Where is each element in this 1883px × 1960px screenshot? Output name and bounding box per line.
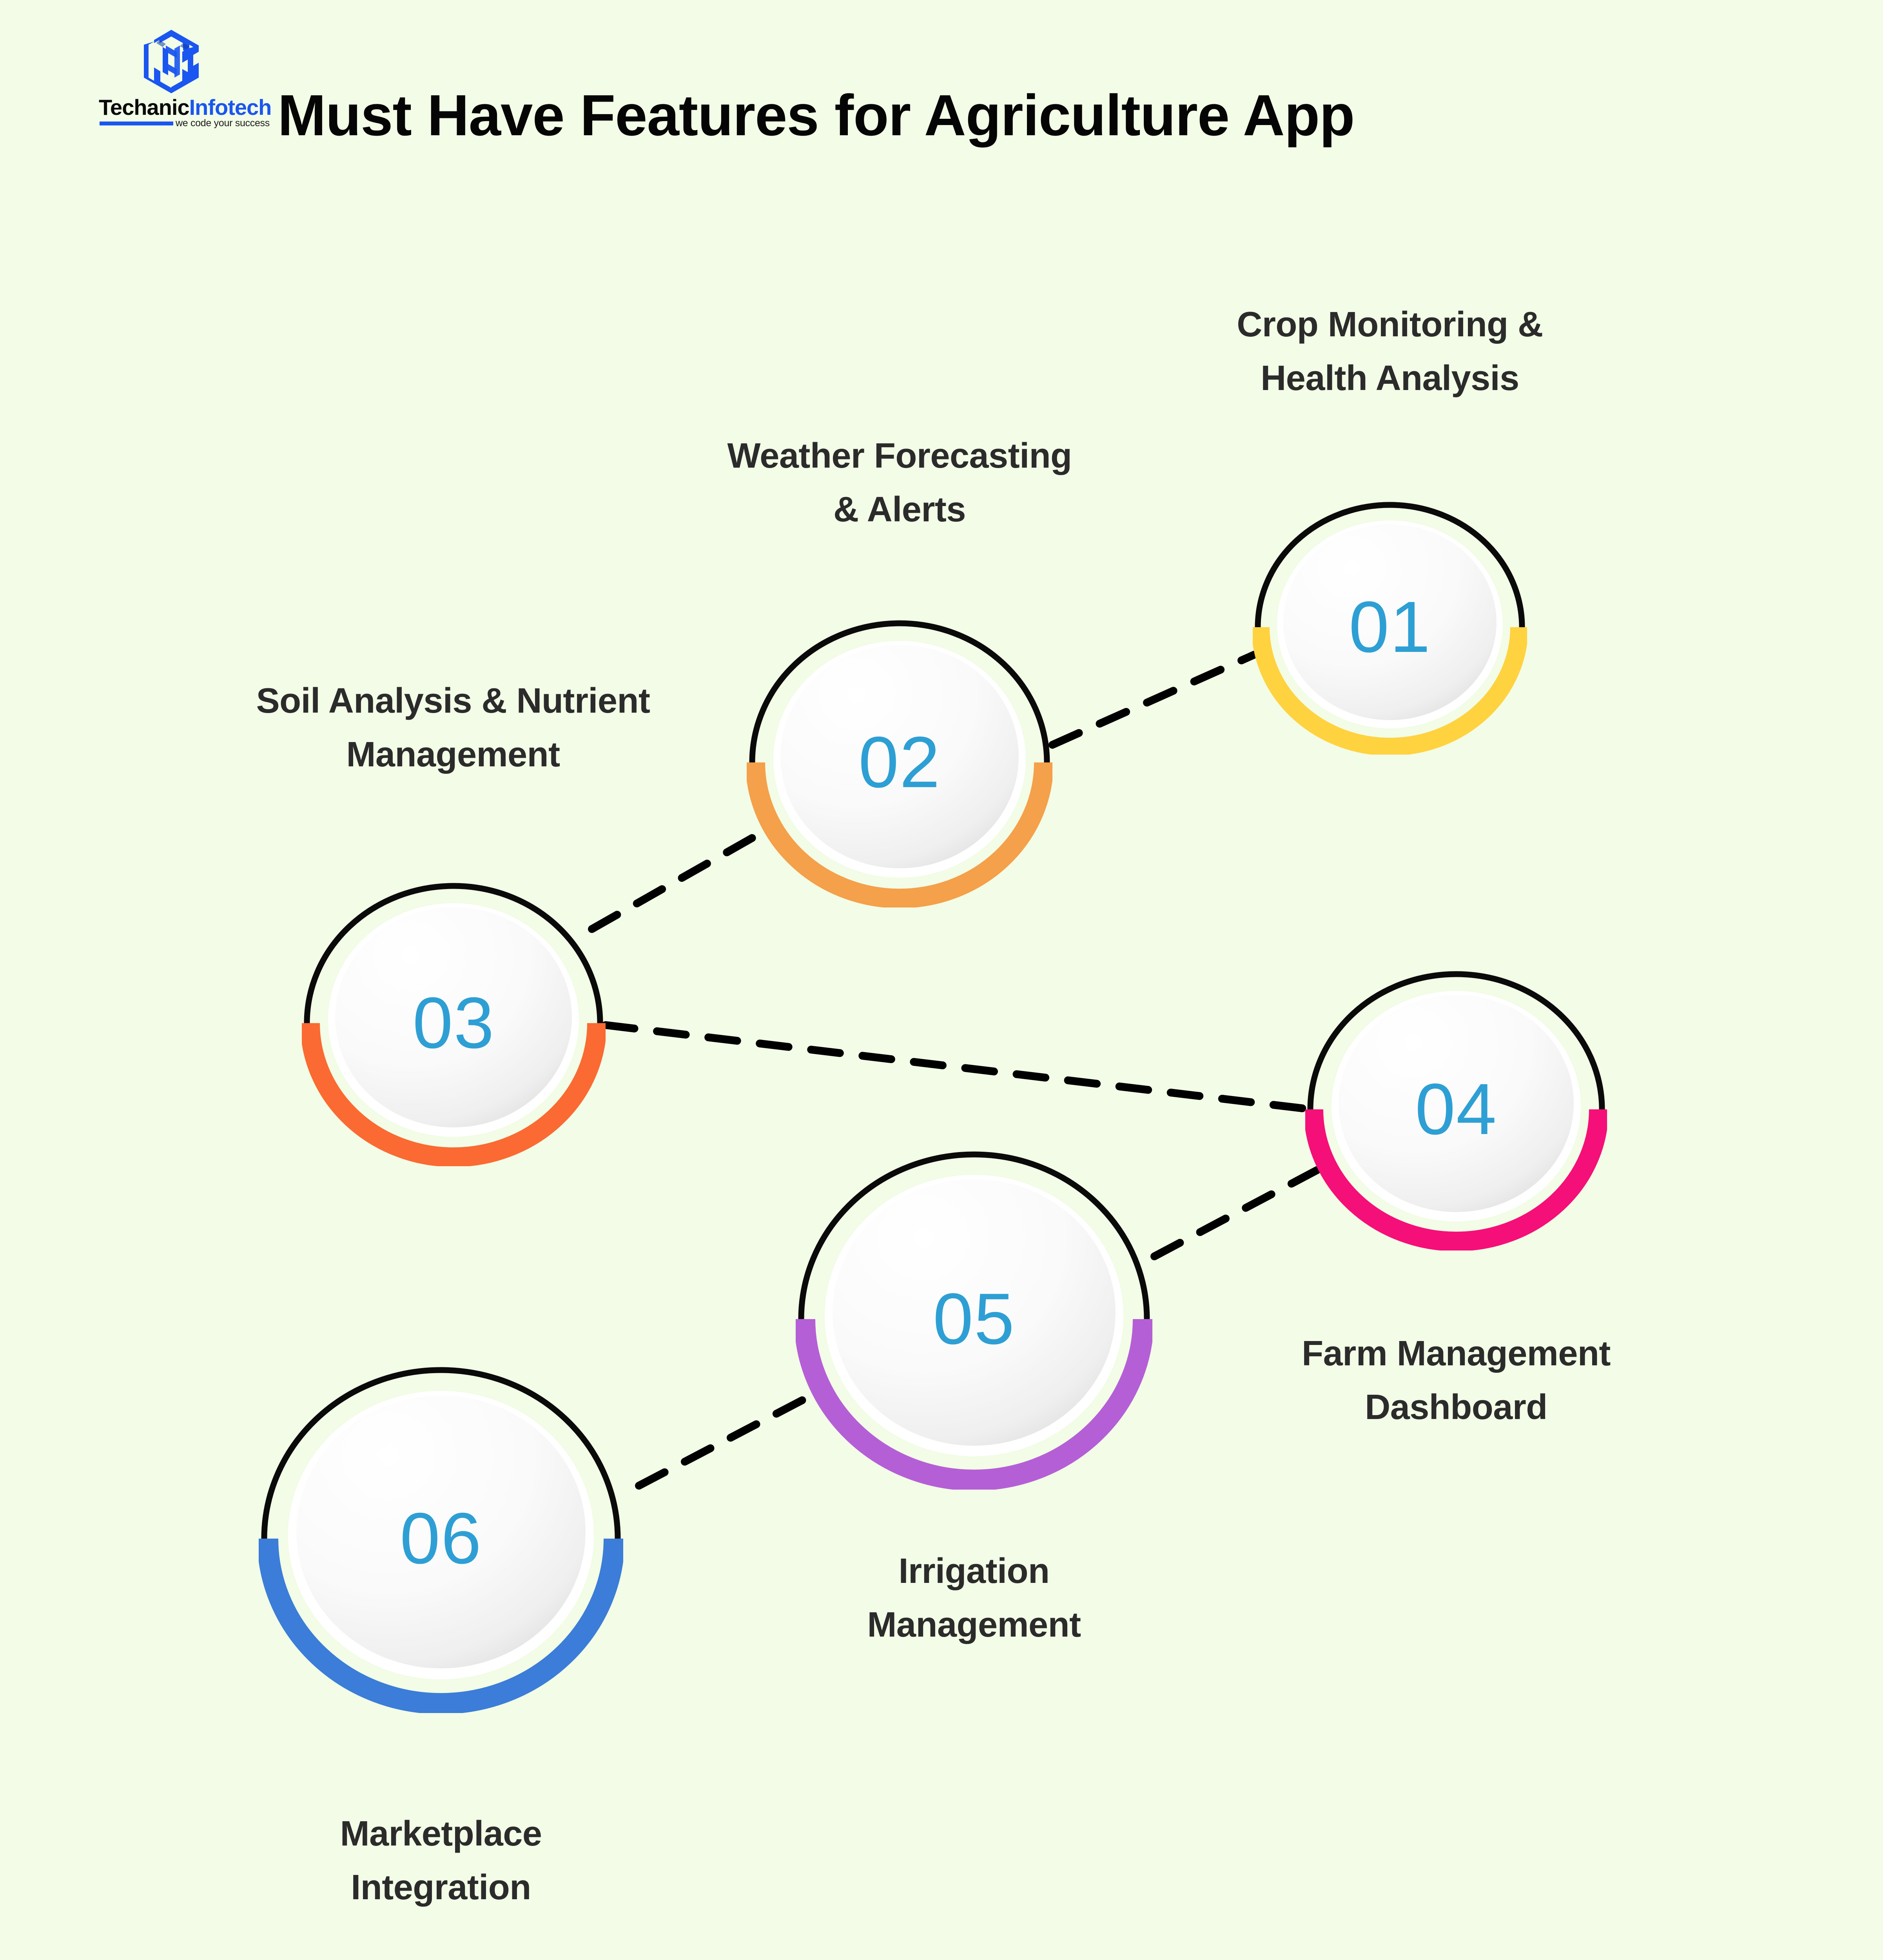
node-02[interactable]: 02 [747,617,1052,907]
connector-03-04 [606,1025,1311,1109]
connector-05-06 [639,1397,807,1486]
node-01-label: Crop Monitoring & Health Analysis [1092,298,1688,405]
node-06[interactable]: 06 [259,1364,623,1713]
node-02-ring [747,617,1052,907]
node-05-ring [796,1149,1152,1490]
node-04[interactable]: 04 [1305,968,1607,1250]
connector-02-01 [1052,655,1254,745]
node-03-label: Soil Analysis & Nutrient Management [155,674,751,782]
connector-03-02 [592,831,764,929]
node-06-ring [259,1364,623,1713]
node-04-ring [1305,968,1607,1250]
node-02-label: Weather Forecasting & Alerts [602,429,1197,537]
node-05-label: Irrigation Management [676,1544,1272,1652]
node-04-label: Farm Management Dashboard [1158,1327,1754,1434]
node-01[interactable]: 01 [1253,500,1527,755]
infographic-canvas: TechanicInfotech we code your success Mu… [0,0,1883,1960]
connector-04-05 [1154,1170,1317,1256]
node-01-ring [1253,500,1527,755]
node-05[interactable]: 05 [796,1149,1152,1490]
node-06-label: Marketplace Integration [143,1807,739,1915]
node-03[interactable]: 03 [302,880,606,1166]
node-03-ring [302,880,606,1166]
